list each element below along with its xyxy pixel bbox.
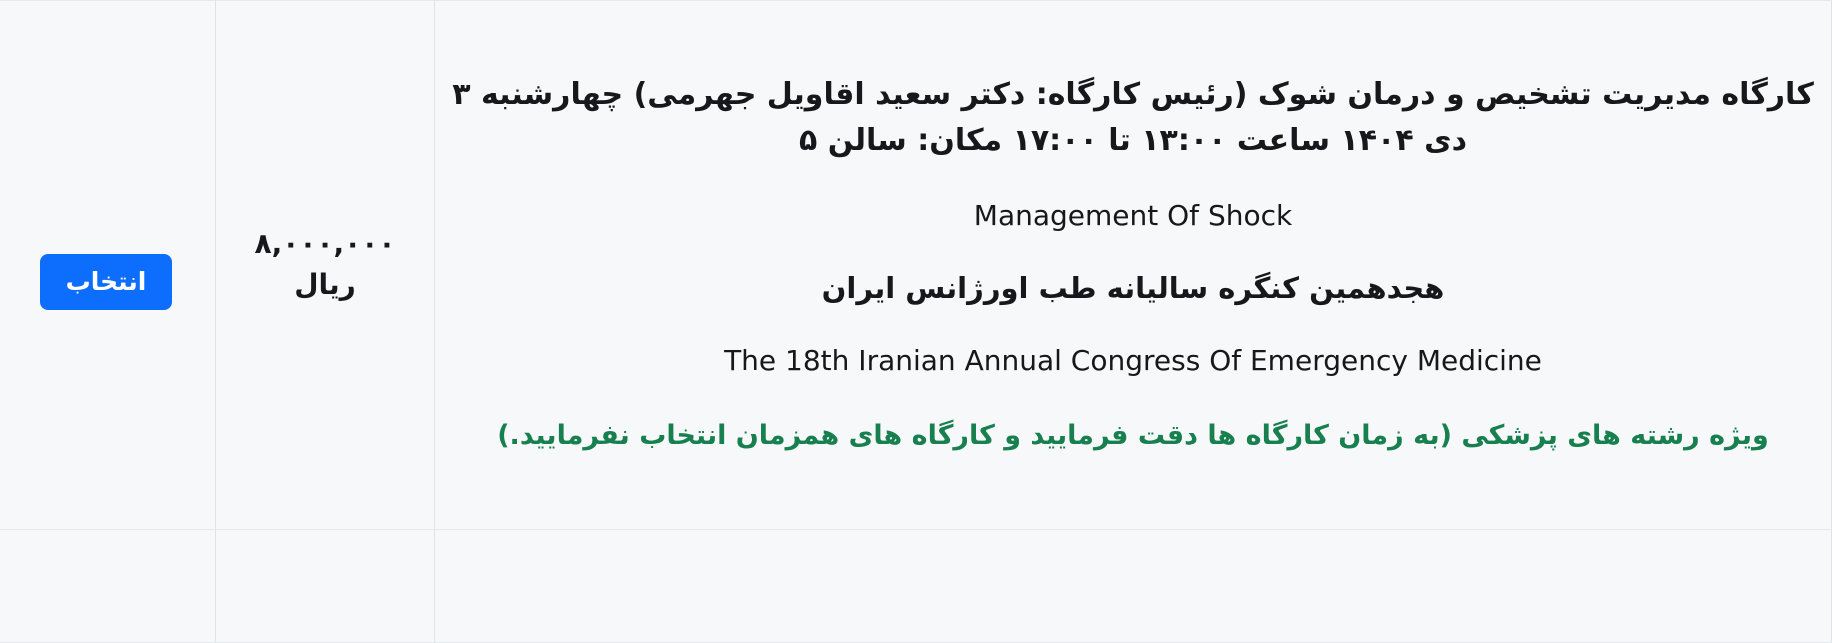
next-row-action-cell (0, 530, 216, 643)
congress-name-persian: هجدهمین کنگره سالیانه طب اورژانس ایران (435, 267, 1831, 311)
workshop-price-cell: ۸,۰۰۰,۰۰۰ ریال (216, 1, 435, 530)
workshops-table: کارگاه مدیریت تشخیص و درمان شوک (رئیس کا… (0, 0, 1832, 643)
workshop-title: کارگاه مدیریت تشخیص و درمان شوک (رئیس کا… (435, 72, 1831, 165)
workshop-notice: ویژه رشته های پزشکی (به زمان کارگاه ها د… (435, 414, 1831, 458)
congress-name-english: The 18th Iranian Annual Congress Of Emer… (435, 340, 1831, 382)
next-row-description-cell (435, 530, 1832, 643)
price-amount: ۸,۰۰۰,۰۰۰ (216, 224, 434, 265)
workshop-description-cell: کارگاه مدیریت تشخیص و درمان شوک (رئیس کا… (435, 1, 1832, 530)
price-currency: ریال (216, 265, 434, 306)
workshop-title-english: Management Of Shock (435, 195, 1831, 237)
workshops-table-container: کارگاه مدیریت تشخیص و درمان شوک (رئیس کا… (0, 0, 1832, 642)
table-row: کارگاه مدیریت تشخیص و درمان شوک (رئیس کا… (0, 1, 1832, 530)
table-row-next (0, 530, 1832, 643)
table-body: کارگاه مدیریت تشخیص و درمان شوک (رئیس کا… (0, 1, 1832, 643)
select-workshop-button[interactable]: انتخاب (40, 254, 173, 310)
next-row-price-cell (216, 530, 435, 643)
workshop-action-cell: انتخاب (0, 1, 216, 530)
